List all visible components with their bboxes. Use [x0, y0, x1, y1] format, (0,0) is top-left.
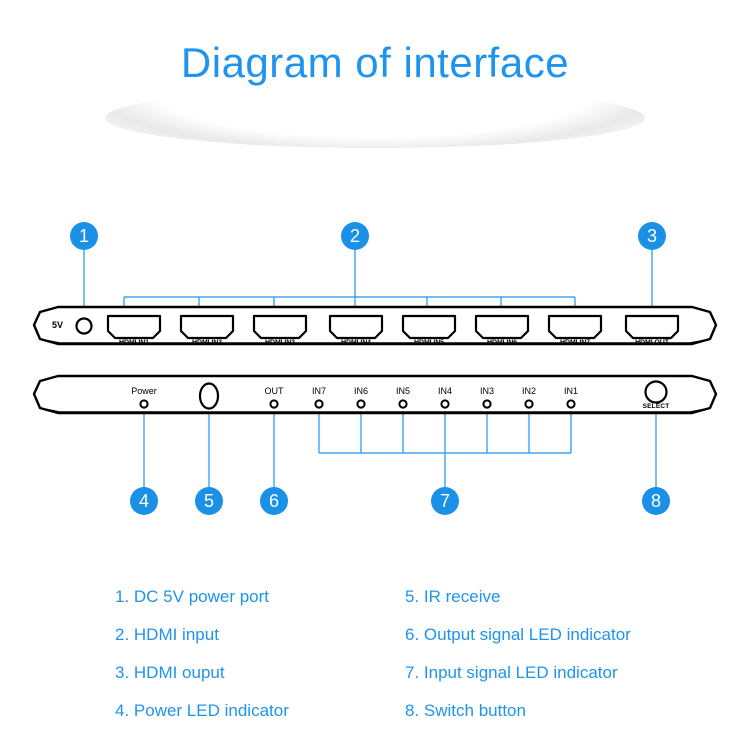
hdmi-port-label-in4: HDMI IN4 — [328, 339, 384, 345]
legend-column-left: 1. DC 5V power port 2. HDMI input 3. HDM… — [115, 578, 405, 730]
hdmi-port-in6[interactable] — [476, 316, 528, 338]
led-in3 — [483, 400, 490, 407]
led-label-in6: IN6 — [343, 387, 379, 396]
power-led — [140, 400, 147, 407]
led-in4 — [441, 400, 448, 407]
callout-badge-5[interactable]: 5 — [195, 487, 223, 515]
led-label-in3: IN3 — [469, 387, 505, 396]
hdmi-port-in7[interactable] — [549, 316, 601, 338]
callout-leader-lines — [84, 248, 656, 487]
legend-item-7: 7. Input signal LED indicator — [405, 654, 735, 692]
leader-bracket-7 — [319, 409, 571, 487]
power-led-label: Power — [124, 387, 164, 396]
diagram-canvas: Diagram of interface — [0, 0, 750, 744]
led-in7 — [315, 400, 322, 407]
hdmi-port-in1[interactable] — [108, 316, 160, 338]
hdmi-port-label-in2: HDMI IN2 — [179, 339, 235, 345]
ir-receiver — [200, 384, 218, 409]
led-in2 — [525, 400, 532, 407]
legend-column-right: 5. IR receive 6. Output signal LED indic… — [405, 578, 735, 730]
led-label-in1: IN1 — [553, 387, 589, 396]
select-button-label: SELECT — [634, 404, 678, 411]
led-label-out: OUT — [256, 387, 292, 396]
hdmi-port-label-in1: HDMI IN1 — [106, 339, 162, 345]
callout-badge-8[interactable]: 8 — [642, 487, 670, 515]
hdmi-port-label-out: HDMI OUT — [624, 339, 680, 345]
legend-item-5: 5. IR receive — [405, 578, 735, 616]
callout-badge-6[interactable]: 6 — [260, 487, 288, 515]
led-in5 — [399, 400, 406, 407]
power-jack-label: 5V — [52, 321, 63, 330]
callout-badge-1[interactable]: 1 — [70, 222, 98, 250]
led-out — [270, 400, 277, 407]
hdmi-port-label-in7: HDMI IN7 — [547, 339, 603, 345]
led-in6 — [357, 400, 364, 407]
legend-item-1: 1. DC 5V power port — [115, 578, 405, 616]
hdmi-port-label-in5: HDMI IN5 — [401, 339, 457, 345]
callout-badge-7[interactable]: 7 — [431, 487, 459, 515]
hdmi-port-in4[interactable] — [330, 316, 382, 338]
callout-badge-2[interactable]: 2 — [341, 222, 369, 250]
hdmi-port-in3[interactable] — [254, 316, 306, 338]
select-button[interactable] — [646, 382, 667, 403]
led-label-in5: IN5 — [385, 387, 421, 396]
hdmi-port-out[interactable] — [626, 316, 678, 338]
legend-item-8: 8. Switch button — [405, 692, 735, 730]
hdmi-port-in5[interactable] — [403, 316, 455, 338]
led-label-in4: IN4 — [427, 387, 463, 396]
legend-item-2: 2. HDMI input — [115, 616, 405, 654]
callout-badge-4[interactable]: 4 — [130, 487, 158, 515]
hdmi-port-label-in3: HDMI IN3 — [252, 339, 308, 345]
led-in1 — [567, 400, 574, 407]
led-label-in7: IN7 — [301, 387, 337, 396]
led-label-in2: IN2 — [511, 387, 547, 396]
dc-5v-power-jack[interactable] — [77, 319, 92, 334]
legend-item-3: 3. HDMI ouput — [115, 654, 405, 692]
legend-item-6: 6. Output signal LED indicator — [405, 616, 735, 654]
hdmi-port-in2[interactable] — [181, 316, 233, 338]
legend-item-4: 4. Power LED indicator — [115, 692, 405, 730]
hdmi-port-label-in6: HDMI IN6 — [474, 339, 530, 345]
callout-badge-3[interactable]: 3 — [638, 222, 666, 250]
